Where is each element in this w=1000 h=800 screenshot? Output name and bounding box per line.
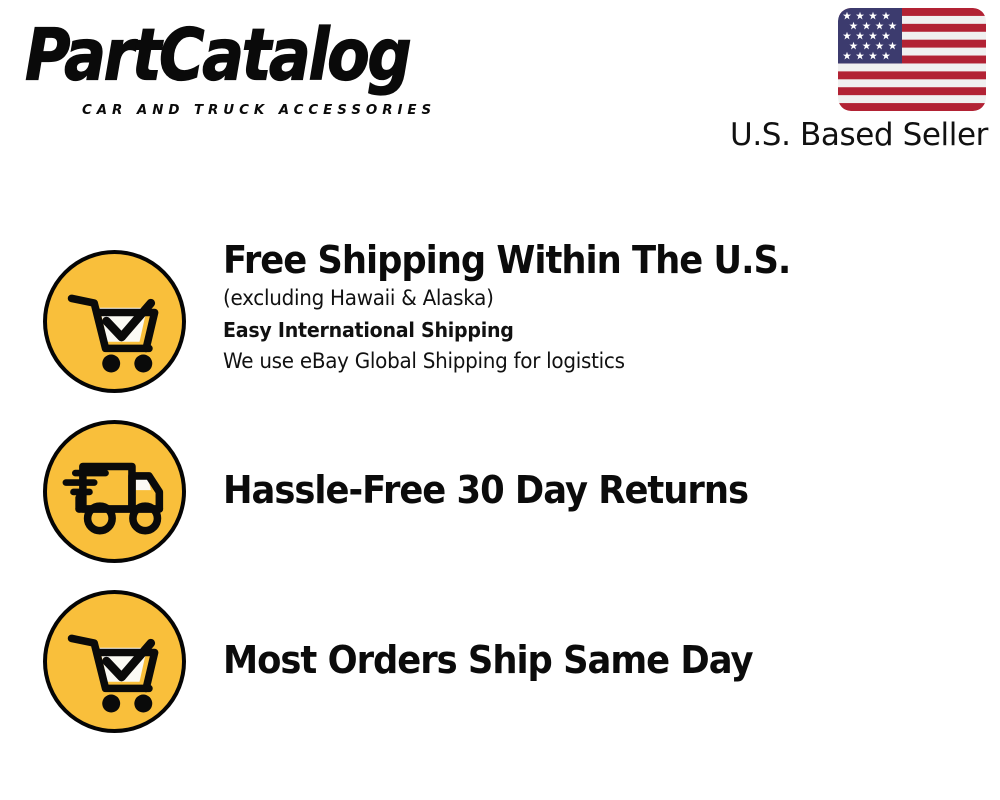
benefit-text-block: Free Shipping Within The U.S. (excluding… (223, 237, 983, 377)
benefit-row: Most Orders Ship Same Day (0, 590, 1000, 742)
page-header: PartCatalog CAR AND TRUCK ACCESSORIES (0, 0, 1000, 165)
shopping-cart-check-icon (43, 250, 186, 393)
delivery-truck-icon (43, 420, 186, 563)
benefit-subtitle-strong: Easy International Shipping (223, 314, 945, 346)
benefit-title: Hassle-Free 30 Day Returns (223, 467, 930, 513)
benefit-row: Free Shipping Within The U.S. (excluding… (0, 232, 1000, 402)
brand-logo[interactable]: PartCatalog CAR AND TRUCK ACCESSORIES (25, 18, 495, 113)
benefit-text-block: Most Orders Ship Same Day (223, 637, 983, 683)
benefit-title: Free Shipping Within The U.S. (223, 237, 930, 283)
benefit-subnote: (excluding Hawaii & Alaska) (223, 283, 945, 314)
benefit-row: Hassle-Free 30 Day Returns (0, 420, 1000, 572)
us-flag-icon (838, 8, 986, 111)
us-based-seller-label: U.S. Based Seller (730, 117, 988, 153)
benefit-title: Most Orders Ship Same Day (223, 637, 930, 683)
shopping-cart-check-icon (43, 590, 186, 733)
brand-wordmark: PartCatalog (25, 18, 481, 94)
brand-tagline: CAR AND TRUCK ACCESSORIES (82, 102, 436, 118)
benefit-subdetail: We use eBay Global Shipping for logistic… (223, 346, 945, 377)
benefit-text-block: Hassle-Free 30 Day Returns (223, 467, 983, 513)
